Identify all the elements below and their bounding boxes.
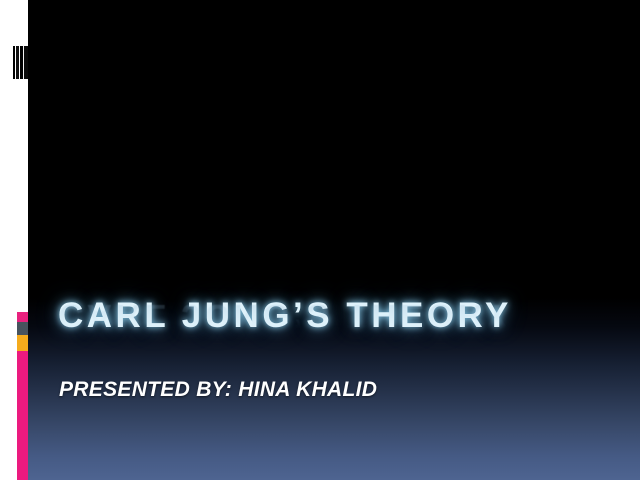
slide-subtitle: PRESENTED BY: HINA KHALID — [59, 378, 377, 402]
accent-segment-gray — [17, 322, 28, 335]
accent-segment-pink — [17, 312, 28, 322]
barcode-icon — [13, 46, 28, 79]
slide-title-reflection: CARL JUNG’S THEORY — [58, 299, 618, 334]
accent-segment-orange — [17, 335, 28, 351]
accent-color-bar — [17, 312, 28, 480]
title-block: CARL JUNG’S THEORY CARL JUNG’S THEORY — [58, 298, 618, 369]
presentation-slide: CARL JUNG’S THEORY CARL JUNG’S THEORY PR… — [0, 0, 640, 480]
slide-background: CARL JUNG’S THEORY CARL JUNG’S THEORY PR… — [28, 0, 640, 480]
accent-segment-magenta — [17, 351, 28, 480]
